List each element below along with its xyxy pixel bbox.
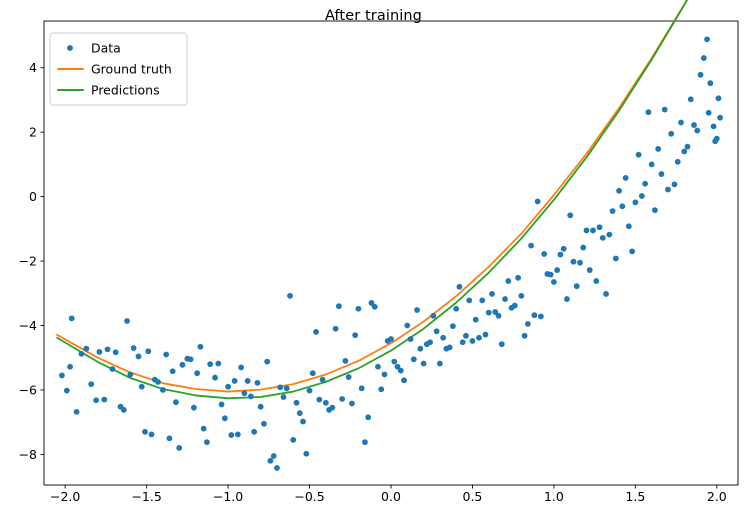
- data-point: [215, 361, 221, 367]
- data-point: [460, 339, 466, 345]
- legend-item-label: Ground truth: [91, 62, 172, 77]
- data-point: [127, 372, 133, 378]
- data-point: [149, 432, 155, 438]
- x-tick-label: −2.0: [50, 489, 80, 504]
- data-point: [173, 399, 179, 405]
- data-point: [580, 245, 586, 251]
- data-point: [188, 356, 194, 362]
- data-point: [160, 387, 166, 393]
- data-point: [587, 267, 593, 273]
- y-tick-label: 4: [29, 60, 37, 75]
- data-point: [427, 339, 433, 345]
- data-point: [121, 407, 127, 413]
- data-point: [678, 120, 684, 126]
- data-point: [470, 338, 476, 344]
- data-point: [222, 415, 228, 421]
- data-point: [105, 346, 111, 352]
- data-point: [359, 385, 365, 391]
- data-point: [584, 228, 590, 234]
- data-point: [241, 390, 247, 396]
- data-point: [701, 55, 707, 61]
- data-point: [277, 384, 283, 390]
- data-point: [486, 310, 492, 316]
- data-point: [593, 278, 599, 284]
- data-point: [716, 95, 722, 101]
- data-point: [101, 397, 107, 403]
- data-point: [483, 332, 489, 338]
- data-point: [294, 400, 300, 406]
- y-tick-label: 0: [29, 189, 37, 204]
- data-point: [96, 349, 102, 355]
- data-point: [404, 323, 410, 329]
- data-point: [551, 279, 557, 285]
- data-point: [342, 358, 348, 364]
- plot-area: −2.0−1.5−1.0−0.50.00.51.01.52.0 420−2−4−…: [0, 0, 747, 528]
- x-tick-label: −1.5: [131, 489, 161, 504]
- data-point: [261, 421, 267, 427]
- y-tick-label: 2: [29, 125, 37, 140]
- data-point: [525, 321, 531, 327]
- data-point: [652, 207, 658, 213]
- data-point: [681, 149, 687, 155]
- data-point: [170, 368, 176, 374]
- data-point: [310, 370, 316, 376]
- data-point: [110, 366, 116, 372]
- data-point: [646, 109, 652, 115]
- data-point: [136, 354, 142, 360]
- data-point: [300, 419, 306, 425]
- data-point: [264, 359, 270, 365]
- data-point: [64, 388, 70, 394]
- data-point: [372, 304, 378, 310]
- data-point: [597, 224, 603, 230]
- data-point: [284, 385, 290, 391]
- data-point: [626, 223, 632, 229]
- data-point: [619, 203, 625, 209]
- data-point: [163, 352, 169, 358]
- legend-marker-dot-icon: [67, 45, 73, 51]
- data-point: [356, 306, 362, 312]
- x-tick-label: 0.0: [381, 489, 401, 504]
- data-point: [194, 370, 200, 376]
- data-point: [307, 388, 313, 394]
- data-point: [623, 175, 629, 181]
- data-point: [235, 432, 241, 438]
- data-point: [258, 404, 264, 410]
- data-point: [271, 453, 277, 459]
- legend-item-label: Predictions: [91, 83, 160, 98]
- data-point: [479, 297, 485, 303]
- data-point: [88, 381, 94, 387]
- data-point: [142, 429, 148, 435]
- data-point: [197, 344, 203, 350]
- data-point: [176, 445, 182, 451]
- data-point: [375, 364, 381, 370]
- data-point: [155, 379, 161, 385]
- data-point: [528, 243, 534, 249]
- data-point: [333, 326, 339, 332]
- data-point: [362, 439, 368, 445]
- data-point: [577, 260, 583, 266]
- data-point: [320, 377, 326, 383]
- data-point: [457, 284, 463, 290]
- data-point: [698, 72, 704, 78]
- data-point: [274, 465, 280, 471]
- data-point: [83, 346, 89, 352]
- x-tick-label: 2.0: [707, 489, 727, 504]
- data-point: [297, 410, 303, 416]
- data-point: [548, 272, 554, 278]
- data-point: [131, 345, 137, 351]
- data-point: [564, 296, 570, 302]
- data-point: [336, 303, 342, 309]
- data-point: [636, 152, 642, 158]
- x-axis-ticks: −2.0−1.5−1.0−0.50.00.51.01.52.0: [50, 485, 727, 504]
- data-point: [688, 96, 694, 102]
- data-point: [365, 414, 371, 420]
- data-point: [207, 361, 213, 367]
- data-point: [408, 336, 414, 342]
- data-point: [476, 335, 482, 341]
- y-tick-label: −2: [19, 254, 37, 269]
- data-point: [672, 181, 678, 187]
- data-point: [414, 307, 420, 313]
- data-point: [711, 123, 717, 129]
- data-point: [290, 437, 296, 443]
- data-point: [232, 378, 238, 384]
- data-point: [685, 144, 691, 150]
- data-point: [437, 361, 443, 367]
- data-point: [219, 402, 225, 408]
- data-point: [268, 458, 274, 464]
- data-point: [649, 161, 655, 167]
- data-point: [463, 333, 469, 339]
- data-point: [616, 188, 622, 194]
- x-tick-label: 1.5: [625, 489, 645, 504]
- figure-canvas: After training −2.0−1.5−1.0−0.50.00.51.0…: [0, 0, 747, 528]
- data-point: [704, 36, 710, 42]
- data-point: [499, 341, 505, 347]
- data-point: [349, 401, 355, 407]
- data-point: [388, 336, 394, 342]
- data-point: [518, 293, 524, 299]
- data-point: [610, 208, 616, 214]
- data-point: [212, 375, 218, 381]
- data-point: [473, 317, 479, 323]
- data-point: [323, 400, 329, 406]
- data-point: [558, 252, 564, 258]
- data-point: [668, 131, 674, 137]
- data-point: [512, 303, 518, 309]
- data-point: [411, 356, 417, 362]
- data-point: [447, 345, 453, 351]
- data-point: [434, 328, 440, 334]
- data-point: [67, 364, 73, 370]
- x-tick-label: −0.5: [294, 489, 324, 504]
- data-point: [590, 228, 596, 234]
- data-point: [567, 212, 573, 218]
- legend-item-label: Data: [91, 41, 121, 56]
- data-point: [79, 351, 85, 357]
- data-point: [600, 235, 606, 241]
- data-point: [204, 439, 210, 445]
- data-point: [339, 396, 345, 402]
- data-point: [346, 374, 352, 380]
- data-point: [248, 393, 254, 399]
- data-point: [421, 361, 427, 367]
- data-point: [329, 405, 335, 411]
- data-point: [662, 107, 668, 113]
- data-point: [382, 372, 388, 378]
- data-point: [453, 306, 459, 312]
- data-point: [313, 329, 319, 335]
- x-tick-label: 1.0: [544, 489, 564, 504]
- data-point: [398, 368, 404, 374]
- data-point: [613, 256, 619, 262]
- data-point: [665, 187, 671, 193]
- data-point: [201, 426, 207, 432]
- y-axis-ticks: 420−2−4−6−8: [19, 60, 44, 462]
- data-point: [655, 146, 661, 152]
- data-point: [281, 394, 287, 400]
- data-point: [603, 291, 609, 297]
- data-point: [139, 384, 145, 390]
- data-point: [303, 451, 309, 457]
- data-point: [228, 432, 234, 438]
- data-point: [466, 297, 472, 303]
- data-point: [440, 335, 446, 341]
- data-point: [238, 364, 244, 370]
- data-point: [391, 359, 397, 365]
- data-point: [538, 314, 544, 320]
- data-point: [145, 348, 151, 354]
- data-point: [417, 346, 423, 352]
- data-point: [706, 110, 712, 116]
- data-point: [59, 373, 65, 379]
- data-point: [450, 323, 456, 329]
- data-point: [541, 251, 547, 257]
- data-point: [287, 293, 293, 299]
- data-point: [707, 80, 713, 86]
- data-point: [124, 318, 130, 324]
- data-point: [714, 136, 720, 142]
- data-point: [113, 349, 119, 355]
- legend[interactable]: DataGround truthPredictions: [50, 33, 187, 105]
- data-point: [316, 397, 322, 403]
- data-point: [632, 200, 638, 206]
- data-point: [642, 181, 648, 187]
- data-point: [489, 291, 495, 297]
- data-point: [561, 246, 567, 252]
- data-point: [571, 259, 577, 265]
- data-point: [505, 278, 511, 284]
- data-point: [554, 267, 560, 273]
- data-point: [531, 312, 537, 318]
- data-point: [93, 397, 99, 403]
- data-point: [180, 362, 186, 368]
- data-point: [352, 332, 358, 338]
- data-point: [255, 380, 261, 386]
- data-point: [191, 405, 197, 411]
- data-point: [522, 333, 528, 339]
- data-point: [629, 248, 635, 254]
- data-point: [502, 296, 508, 302]
- data-point: [69, 316, 75, 322]
- data-point: [574, 283, 580, 289]
- x-tick-label: 0.5: [463, 489, 483, 504]
- data-point: [378, 386, 384, 392]
- data-point: [496, 313, 502, 319]
- data-point: [691, 122, 697, 128]
- data-point: [245, 378, 251, 384]
- data-point: [717, 115, 723, 121]
- data-point: [659, 171, 665, 177]
- data-point: [251, 429, 257, 435]
- data-point: [694, 128, 700, 134]
- data-point: [675, 159, 681, 165]
- data-point: [167, 435, 173, 441]
- data-point: [515, 275, 521, 281]
- y-tick-label: −8: [19, 447, 37, 462]
- x-tick-label: −1.0: [213, 489, 243, 504]
- data-point: [639, 193, 645, 199]
- data-point: [401, 377, 407, 383]
- data-point: [430, 313, 436, 319]
- data-point: [535, 199, 541, 205]
- data-point: [225, 384, 231, 390]
- y-tick-label: −4: [19, 318, 37, 333]
- y-tick-label: −6: [19, 382, 37, 397]
- data-point: [74, 409, 80, 415]
- data-point: [606, 232, 612, 238]
